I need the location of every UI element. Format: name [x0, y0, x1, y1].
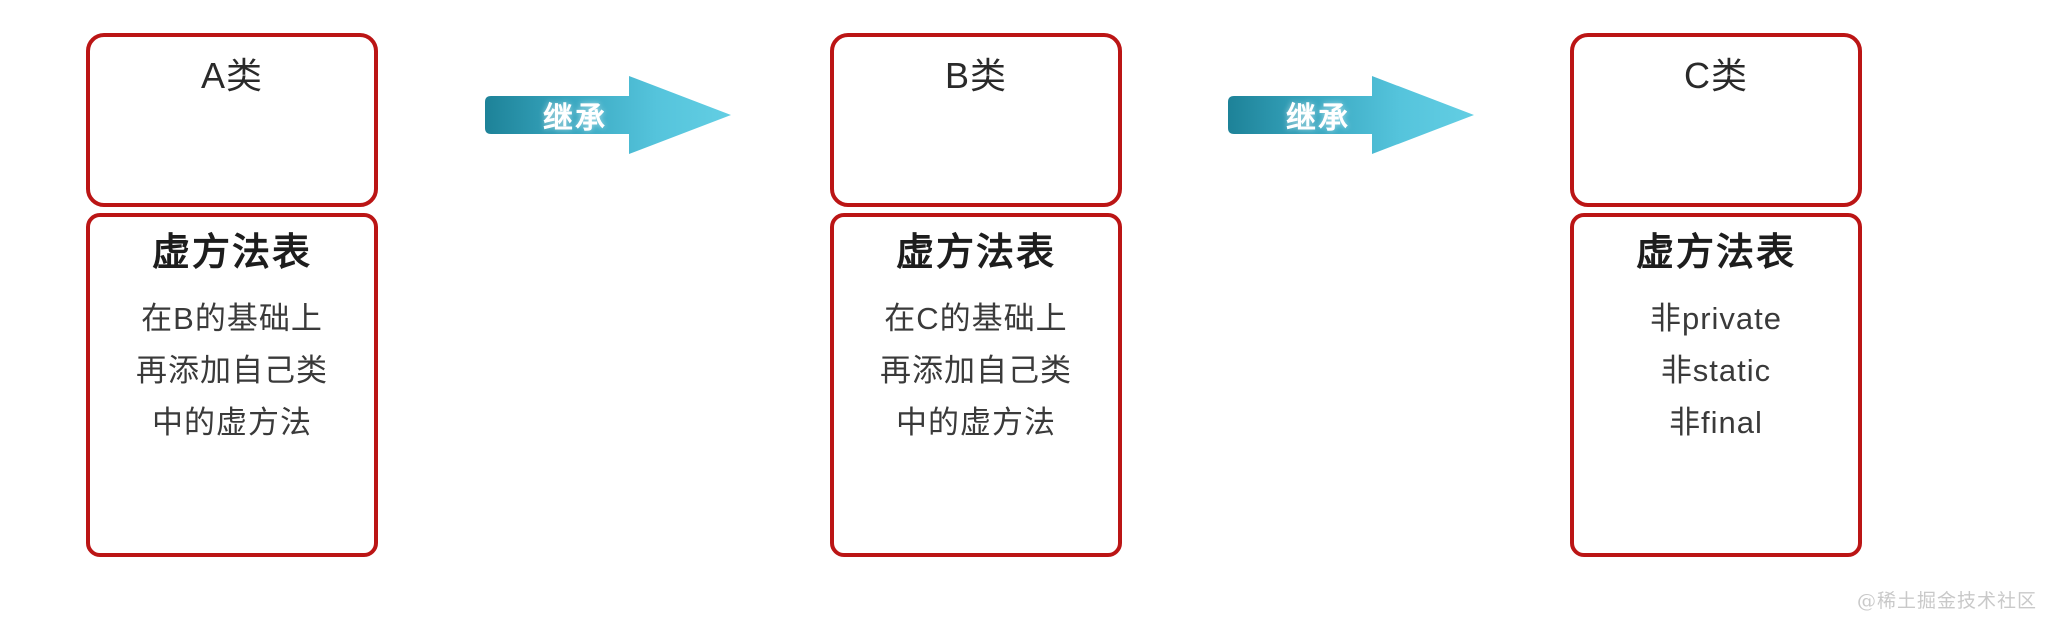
class-name-label-a: A类 — [90, 55, 374, 96]
vtable-box-b: 虚方法表 在C的基础上 再添加自己类 中的虚方法 — [830, 213, 1122, 557]
arrow-right-icon — [479, 72, 737, 158]
vtable-line: 再添加自己类 — [834, 355, 1118, 386]
inheritance-arrow-b-to-c: 继承 — [1222, 72, 1480, 158]
vtable-lines-c: 非private 非static 非final — [1574, 303, 1858, 459]
vtable-line: 在B的基础上 — [90, 303, 374, 334]
class-name-label-b: B类 — [834, 55, 1118, 96]
vtable-title-b: 虚方法表 — [834, 231, 1118, 277]
vtable-line: 非final — [1574, 407, 1858, 438]
class-block-c: C类 虚方法表 非private 非static 非final — [1570, 33, 1862, 557]
vtable-line: 再添加自己类 — [90, 355, 374, 386]
watermark-label: @稀土掘金技术社区 — [1857, 586, 2037, 613]
vtable-line: 非private — [1574, 303, 1858, 334]
vtable-line: 在C的基础上 — [834, 303, 1118, 334]
diagram-canvas: A类 虚方法表 在B的基础上 再添加自己类 中的虚方法 继承 — [0, 0, 2059, 627]
arrow-right-icon — [1222, 72, 1480, 158]
class-name-label-c: C类 — [1574, 55, 1858, 96]
vtable-lines-b: 在C的基础上 再添加自己类 中的虚方法 — [834, 303, 1118, 459]
inheritance-arrow-a-to-b: 继承 — [479, 72, 737, 158]
class-header-box-b: B类 — [830, 33, 1122, 207]
vtable-title-c: 虚方法表 — [1574, 231, 1858, 277]
vtable-line: 中的虚方法 — [90, 407, 374, 438]
vtable-box-c: 虚方法表 非private 非static 非final — [1570, 213, 1862, 557]
class-header-box-c: C类 — [1570, 33, 1862, 207]
class-block-a: A类 虚方法表 在B的基础上 再添加自己类 中的虚方法 — [86, 33, 378, 557]
vtable-lines-a: 在B的基础上 再添加自己类 中的虚方法 — [90, 303, 374, 459]
vtable-line: 中的虚方法 — [834, 407, 1118, 438]
vtable-title-a: 虚方法表 — [90, 231, 374, 277]
vtable-line: 非static — [1574, 355, 1858, 386]
class-block-b: B类 虚方法表 在C的基础上 再添加自己类 中的虚方法 — [830, 33, 1122, 557]
class-header-box-a: A类 — [86, 33, 378, 207]
vtable-box-a: 虚方法表 在B的基础上 再添加自己类 中的虚方法 — [86, 213, 378, 557]
